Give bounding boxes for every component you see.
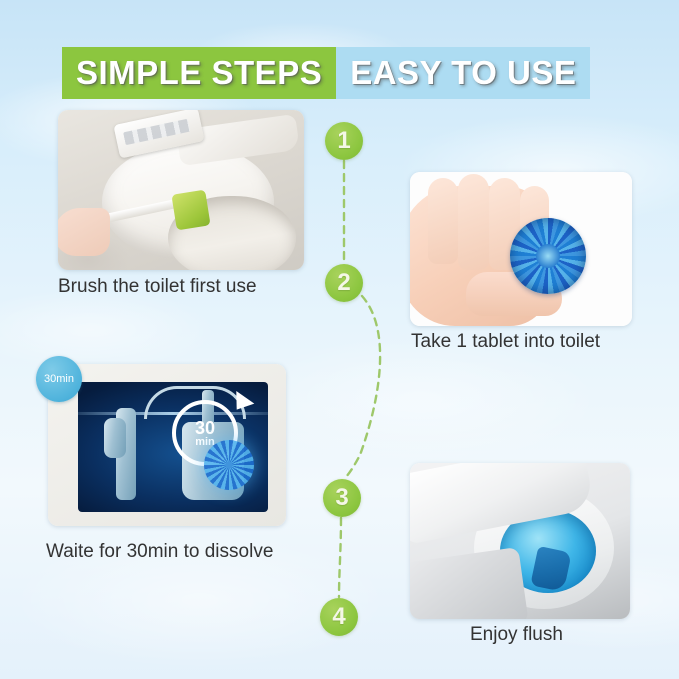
flushing-toilet-photo	[410, 463, 630, 619]
step-4-caption: Enjoy flush	[470, 624, 563, 646]
step-3-caption: Waite for 30min to dissolve	[46, 541, 273, 563]
step-marker-3[interactable]: 3	[323, 479, 361, 517]
timer-value: 30	[195, 419, 215, 437]
step-2-caption: Take 1 tablet into toilet	[411, 331, 600, 353]
finger-shape	[428, 178, 458, 264]
header-banner: SIMPLE STEPS EASY TO USE	[62, 47, 590, 99]
step-3-duration-badge: 30min	[36, 356, 82, 402]
cistern-interior-shape: 30 min	[78, 382, 268, 512]
header-band-easy-to-use: EASY TO USE	[336, 47, 590, 99]
cistern-photo: 30 min	[48, 364, 286, 526]
step-1-image-card	[58, 110, 304, 270]
step-3-image-card: 30 min	[48, 364, 286, 526]
brush-head-shape	[171, 190, 210, 231]
toilet-brushing-photo	[58, 110, 304, 270]
toilet-body-shape	[410, 547, 529, 619]
step-4-image-card	[410, 463, 630, 619]
dissolving-tablet-shape	[204, 440, 254, 490]
header-band-simple-steps: SIMPLE STEPS	[62, 47, 336, 99]
step-marker-2[interactable]: 2	[325, 264, 363, 302]
header-title-right: EASY TO USE	[350, 54, 576, 92]
step-marker-1[interactable]: 1	[325, 122, 363, 160]
infographic-poster: SIMPLE STEPS EASY TO USE Brush the toile…	[0, 0, 679, 679]
finger-shape	[458, 174, 489, 270]
step-1-caption: Brush the toilet first use	[58, 276, 257, 298]
step-marker-4[interactable]: 4	[320, 598, 358, 636]
tablet-in-hand-photo	[410, 172, 632, 326]
blue-tablet-shape	[510, 218, 586, 294]
header-title-left: SIMPLE STEPS	[76, 54, 322, 92]
hand-shape	[58, 208, 110, 256]
step-2-image-card	[410, 172, 632, 326]
float-shape	[104, 418, 126, 458]
